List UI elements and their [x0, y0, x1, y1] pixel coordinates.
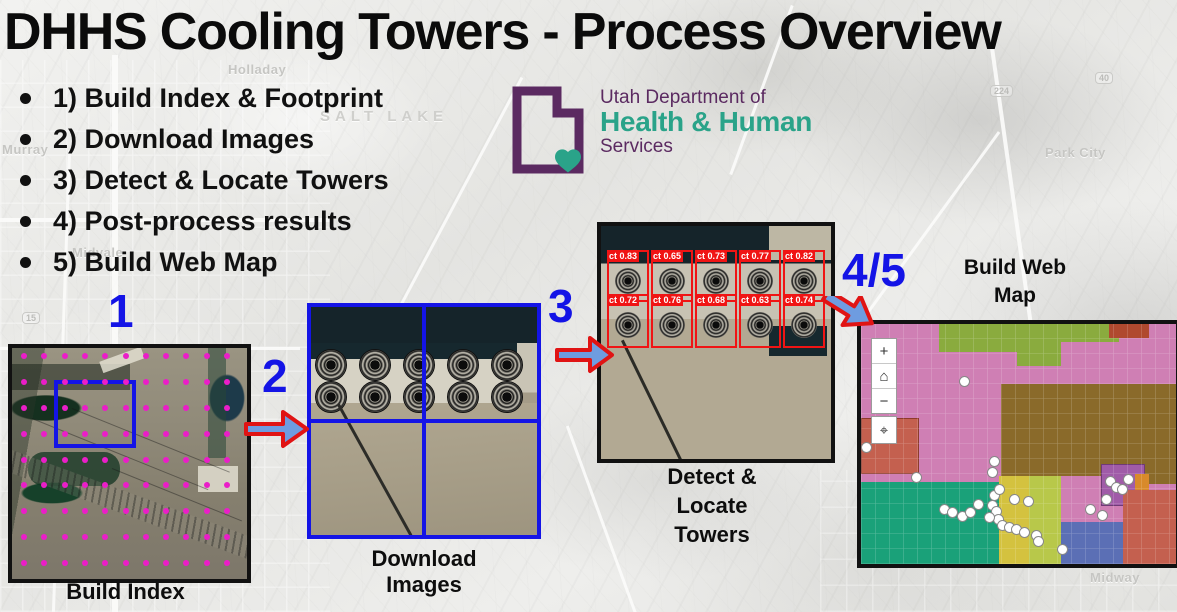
index-point	[204, 379, 210, 385]
detection-label: ct 0.72	[607, 294, 639, 306]
index-point	[224, 431, 230, 437]
footprint-bounding-box	[54, 380, 136, 448]
step-number-1: 1	[108, 288, 134, 334]
index-point	[123, 379, 129, 385]
bullet-label: 4) Post-process results	[53, 206, 352, 237]
index-point	[123, 534, 129, 540]
bullet-dot-icon	[20, 257, 31, 268]
detection-label: ct 0.83	[607, 250, 639, 262]
index-point	[163, 405, 169, 411]
index-point	[123, 431, 129, 437]
cooling-tower-fan	[747, 268, 773, 294]
detection-label: ct 0.77	[739, 250, 771, 262]
index-point	[41, 457, 47, 463]
tower-marker[interactable]	[987, 467, 998, 478]
index-point	[62, 353, 68, 359]
index-point	[204, 431, 210, 437]
tower-marker[interactable]	[911, 472, 922, 483]
cooling-tower-fan	[703, 312, 729, 338]
highway-shield-icon: 40	[1095, 72, 1113, 84]
cooling-tower-fan	[703, 268, 729, 294]
list-item: 3) Detect & Locate Towers	[8, 160, 389, 201]
index-point	[62, 431, 68, 437]
index-point	[82, 560, 88, 566]
index-point	[102, 405, 108, 411]
index-point	[204, 353, 210, 359]
index-point	[224, 379, 230, 385]
dhhs-logo: Utah Department of Health & Human Servic…	[510, 84, 812, 176]
detection-label: ct 0.63	[739, 294, 771, 306]
tower-marker[interactable]	[1033, 536, 1044, 547]
utah-outline-icon	[510, 84, 586, 176]
index-point	[82, 534, 88, 540]
detection-label: ct 0.76	[651, 294, 683, 306]
tile-grid-border	[307, 303, 541, 539]
bullet-label: 5) Build Web Map	[53, 247, 278, 278]
tower-marker[interactable]	[994, 484, 1005, 495]
index-point	[183, 457, 189, 463]
index-point	[204, 534, 210, 540]
tower-marker[interactable]	[1085, 504, 1096, 515]
bullet-label: 1) Build Index & Footprint	[53, 83, 383, 114]
bullet-dot-icon	[20, 134, 31, 145]
index-point	[204, 560, 210, 566]
arrow-step-45	[818, 296, 890, 359]
index-point	[21, 405, 27, 411]
tower-marker[interactable]	[1097, 510, 1108, 521]
index-point	[102, 431, 108, 437]
detection-label: ct 0.82	[783, 250, 815, 262]
cooling-tower-fan	[791, 312, 817, 338]
index-point	[123, 353, 129, 359]
list-item: 5) Build Web Map	[8, 242, 389, 283]
index-point	[21, 560, 27, 566]
tower-marker[interactable]	[1019, 527, 1030, 538]
basemap-label-midway: Midway	[1090, 570, 1140, 585]
slide-canvas: Holladay SALT LAKE Murray Midvale Park C…	[0, 0, 1177, 612]
index-point	[123, 508, 129, 514]
panel-download-images[interactable]	[307, 303, 541, 539]
index-point	[21, 457, 27, 463]
aerial-feature	[208, 348, 226, 458]
caption-web-map-line2: Map	[920, 284, 1110, 309]
step-number-4-5: 4/5	[842, 247, 906, 293]
index-point	[41, 431, 47, 437]
tower-marker[interactable]	[1023, 496, 1034, 507]
arrow-step-2	[243, 406, 311, 457]
cooling-tower-fan	[615, 268, 641, 294]
bullet-dot-icon	[20, 216, 31, 227]
index-point	[62, 508, 68, 514]
index-point	[82, 457, 88, 463]
index-point	[143, 560, 149, 566]
tower-marker[interactable]	[1123, 474, 1134, 485]
index-point	[143, 431, 149, 437]
dhhs-logo-text: Utah Department of Health & Human Servic…	[600, 84, 812, 156]
index-point	[62, 379, 68, 385]
index-point	[204, 457, 210, 463]
index-point	[204, 405, 210, 411]
bullet-label: 2) Download Images	[53, 124, 314, 155]
zoom-out-icon[interactable]: −	[872, 389, 896, 413]
basemap-label-holladay: Holladay	[228, 62, 286, 77]
index-point	[163, 431, 169, 437]
cooling-tower-fan	[747, 312, 773, 338]
detection-label: ct 0.68	[695, 294, 727, 306]
tower-marker[interactable]	[959, 376, 970, 387]
tower-marker[interactable]	[984, 512, 995, 523]
index-point	[62, 560, 68, 566]
index-point	[62, 482, 68, 488]
index-point	[21, 431, 27, 437]
panel-web-map[interactable]: + ⌂ − ⌖	[857, 320, 1177, 568]
highway-shield-icon: 15	[22, 312, 40, 324]
index-point	[143, 379, 149, 385]
caption-web-map-line1: Build Web	[920, 256, 1110, 281]
arrow-step-3	[554, 333, 616, 382]
bullet-dot-icon	[20, 93, 31, 104]
bullet-label: 3) Detect & Locate Towers	[53, 165, 389, 196]
list-item: 2) Download Images	[8, 119, 389, 160]
logo-line-services: Services	[600, 137, 812, 156]
index-point	[62, 405, 68, 411]
index-point	[21, 379, 27, 385]
tower-marker[interactable]	[973, 499, 984, 510]
index-point	[62, 457, 68, 463]
cooling-tower-fan	[615, 312, 641, 338]
index-point	[21, 353, 27, 359]
index-point	[102, 457, 108, 463]
tower-marker[interactable]	[1057, 544, 1068, 555]
step-number-3: 3	[548, 283, 574, 329]
index-point	[204, 508, 210, 514]
index-point	[123, 405, 129, 411]
bullet-dot-icon	[20, 175, 31, 186]
index-point	[224, 457, 230, 463]
index-point	[82, 405, 88, 411]
panel-build-index[interactable]	[8, 344, 251, 583]
cooling-tower-fan	[659, 268, 685, 294]
tower-marker[interactable]	[989, 456, 1000, 467]
map-locate-control[interactable]: ⌖	[871, 416, 897, 444]
cooling-tower-fan	[659, 312, 685, 338]
caption-detect-line3: Towers	[597, 522, 827, 548]
process-steps-list: 1) Build Index & Footprint 2) Download I…	[8, 78, 389, 283]
index-point	[163, 457, 169, 463]
index-point	[143, 405, 149, 411]
locate-icon[interactable]: ⌖	[872, 417, 896, 443]
list-item: 1) Build Index & Footprint	[8, 78, 389, 119]
panel-detect-towers[interactable]: ct 0.83ct 0.65ct 0.73ct 0.77ct 0.82ct 0.…	[597, 222, 835, 463]
index-point	[62, 534, 68, 540]
index-point	[143, 457, 149, 463]
caption-detect-line2: Locate	[597, 493, 827, 519]
index-point	[224, 560, 230, 566]
index-point	[82, 353, 88, 359]
index-point	[143, 534, 149, 540]
index-point	[123, 457, 129, 463]
logo-line-health-human: Health & Human	[600, 108, 812, 136]
caption-download-images-line1: Download	[307, 546, 541, 572]
caption-download-images-line2: Images	[307, 572, 541, 598]
index-point	[224, 405, 230, 411]
index-point	[224, 353, 230, 359]
index-point	[163, 379, 169, 385]
home-icon[interactable]: ⌂	[872, 364, 896, 389]
logo-line-department: Utah Department of	[600, 88, 812, 107]
caption-build-index: Build Index	[8, 579, 243, 605]
index-point	[82, 379, 88, 385]
cooling-tower-fan	[791, 268, 817, 294]
tower-marker[interactable]	[1117, 484, 1128, 495]
caption-detect-line1: Detect &	[597, 464, 827, 490]
page-title: DHHS Cooling Towers - Process Overview	[4, 2, 1001, 62]
list-item: 4) Post-process results	[8, 201, 389, 242]
basemap-label-park-city: Park City	[1045, 145, 1106, 160]
tower-marker[interactable]	[1009, 494, 1020, 505]
step-number-2: 2	[262, 353, 288, 399]
detection-label: ct 0.65	[651, 250, 683, 262]
index-point	[82, 431, 88, 437]
index-point	[123, 560, 129, 566]
index-point	[123, 482, 129, 488]
tower-marker[interactable]	[1101, 494, 1112, 505]
detection-label: ct 0.74	[783, 294, 815, 306]
highway-shield-icon: 224	[990, 85, 1013, 97]
index-point	[143, 353, 149, 359]
detection-label: ct 0.73	[695, 250, 727, 262]
